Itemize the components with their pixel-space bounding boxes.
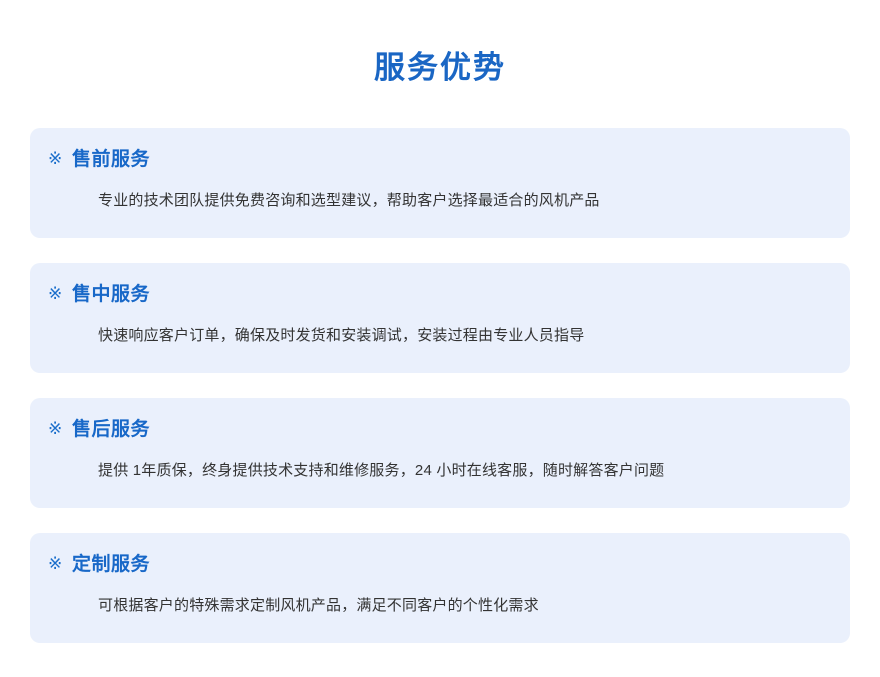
card-title: 售中服务 [72, 285, 150, 304]
card-description: 提供 1年质保，终身提供技术支持和维修服务，24 小时在线客服，随时解答客户问题 [48, 439, 824, 483]
service-card: ※ 售后服务 提供 1年质保，终身提供技术支持和维修服务，24 小时在线客服，随… [30, 398, 850, 508]
service-advantages-page: 服务优势 ※ 售前服务 专业的技术团队提供免费咨询和选型建议，帮助客户选择最适合… [0, 0, 880, 677]
card-description: 可根据客户的特殊需求定制风机产品，满足不同客户的个性化需求 [48, 574, 824, 618]
service-card: ※ 售中服务 快速响应客户订单，确保及时发货和安装调试，安装过程由专业人员指导 [30, 263, 850, 373]
reference-mark-icon: ※ [48, 556, 72, 573]
card-title: 售前服务 [72, 150, 150, 169]
card-title: 售后服务 [72, 420, 150, 439]
service-card: ※ 定制服务 可根据客户的特殊需求定制风机产品，满足不同客户的个性化需求 [30, 533, 850, 643]
card-header: ※ 定制服务 [48, 555, 824, 574]
page-title: 服务优势 [0, 0, 880, 83]
card-header: ※ 售后服务 [48, 420, 824, 439]
service-card-list: ※ 售前服务 专业的技术团队提供免费咨询和选型建议，帮助客户选择最适合的风机产品… [30, 128, 850, 643]
card-title: 定制服务 [72, 555, 150, 574]
card-header: ※ 售中服务 [48, 285, 824, 304]
service-card: ※ 售前服务 专业的技术团队提供免费咨询和选型建议，帮助客户选择最适合的风机产品 [30, 128, 850, 238]
card-description: 快速响应客户订单，确保及时发货和安装调试，安装过程由专业人员指导 [48, 304, 824, 348]
card-description: 专业的技术团队提供免费咨询和选型建议，帮助客户选择最适合的风机产品 [48, 169, 824, 213]
reference-mark-icon: ※ [48, 421, 72, 438]
reference-mark-icon: ※ [48, 286, 72, 303]
reference-mark-icon: ※ [48, 151, 72, 168]
card-header: ※ 售前服务 [48, 150, 824, 169]
